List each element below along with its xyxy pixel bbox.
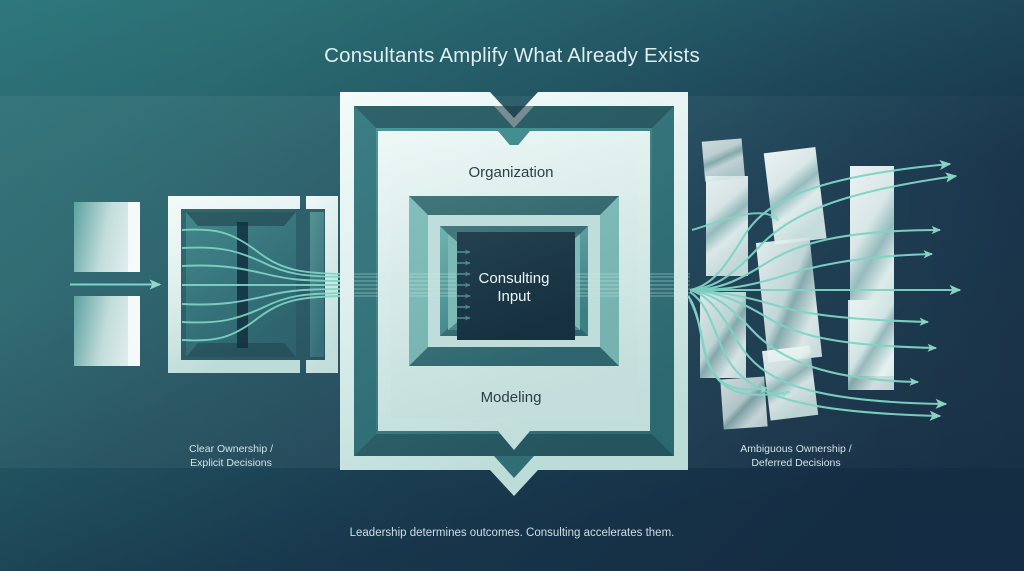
- right-annotation-line2: Deferred Decisions: [751, 457, 840, 469]
- right-panel: [700, 292, 746, 378]
- scene-svg: Consultants Amplify What Already Exists: [0, 0, 1024, 571]
- diagram-canvas: Consultants Amplify What Already Exists: [0, 0, 1024, 571]
- page-title: Consultants Amplify What Already Exists: [324, 44, 700, 67]
- center-bottom-label: Modeling: [481, 389, 542, 406]
- caption: Leadership determines outcomes. Consulti…: [350, 527, 675, 539]
- right-annotation-line1: Ambiguous Ownership /: [740, 443, 852, 455]
- right-panel: [702, 138, 745, 181]
- left-annotation-line1: Clear Ownership /: [189, 443, 273, 455]
- core-label-line1: Consulting: [479, 270, 550, 287]
- core-label-line2: Input: [497, 288, 531, 305]
- center-top-label: Organization: [468, 164, 553, 181]
- left-annotation-line2: Explicit Decisions: [190, 457, 272, 469]
